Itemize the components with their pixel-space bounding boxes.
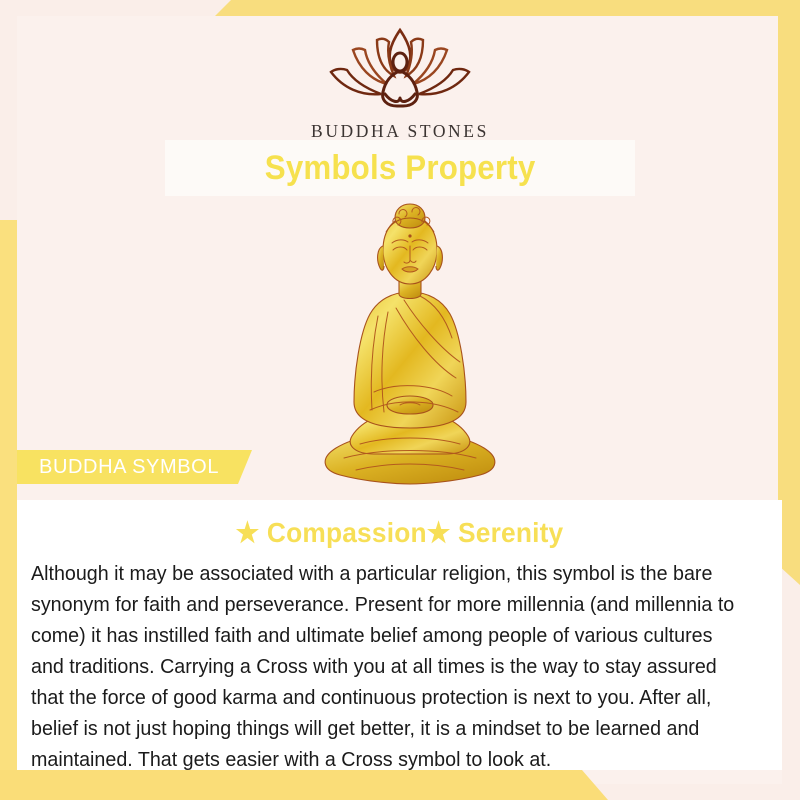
article-subheading: ★ Compassion★ Serenity [40, 516, 759, 549]
section-ribbon: BUDDHA SYMBOL [17, 450, 252, 484]
brand-name: BUDDHA STONES [311, 121, 489, 142]
decor-band-top [215, 0, 800, 16]
decor-band-left [0, 220, 17, 800]
article-panel: ★ Compassion★ Serenity Although it may b… [17, 500, 782, 770]
golden-buddha-image [300, 196, 520, 496]
page-title: Symbols Property [265, 149, 536, 188]
brand-logo: BUDDHA STONES [0, 24, 800, 142]
article-body: Although it may be associated with a par… [31, 559, 742, 776]
poster-page: BUDDHA STONES Symbols Property [0, 0, 800, 800]
lotus-meditation-icon [315, 24, 485, 116]
section-ribbon-label: BUDDHA SYMBOL [39, 456, 219, 479]
title-band: Symbols Property [165, 140, 635, 196]
